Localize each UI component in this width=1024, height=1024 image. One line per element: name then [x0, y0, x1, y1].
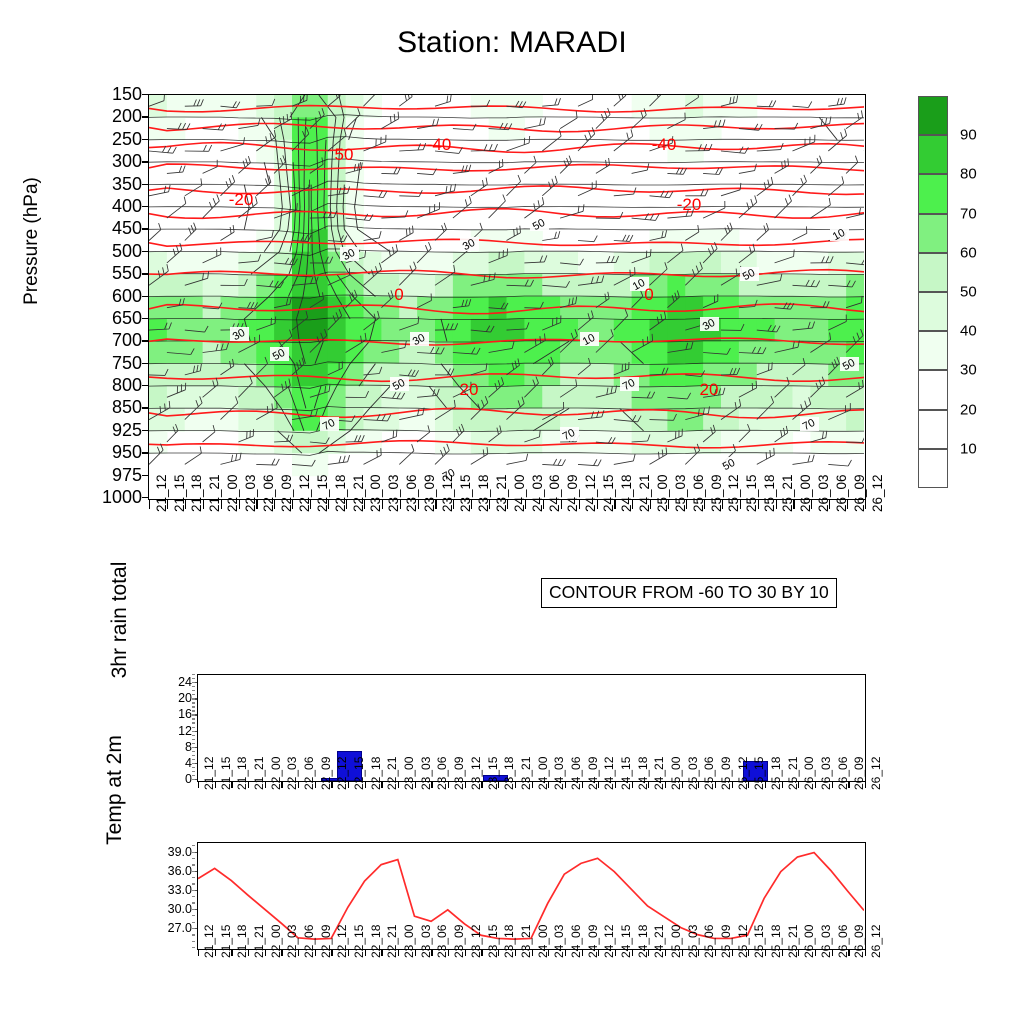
rain-minor-tick: [192, 678, 195, 679]
x-tick-label: 22_18: [370, 757, 382, 790]
x-tick-mark: [715, 950, 716, 956]
x-tick-label: 23_03: [420, 757, 432, 790]
colorbar-band[interactable]: [918, 410, 948, 449]
pressure-tick-label: 150: [112, 85, 142, 103]
x-tick-mark: [704, 500, 705, 509]
x-tick-mark: [310, 500, 311, 509]
x-tick-label: 22_09: [320, 925, 332, 958]
x-tick-mark: [682, 782, 683, 788]
rain-tick-labels: 04812162024: [140, 674, 192, 782]
x-tick-label: 24_15: [620, 925, 632, 958]
colorbar-tick-label: 40: [960, 324, 977, 339]
x-tick-label: 21_18: [236, 757, 248, 790]
temp-tick-label: 36.0: [168, 865, 192, 878]
x-tick-label: 24_00: [537, 757, 549, 790]
x-tick-label: 24_21: [653, 925, 665, 958]
x-tick-mark: [498, 950, 499, 956]
colorbar-band[interactable]: [918, 174, 948, 213]
colorbar-band[interactable]: [918, 449, 948, 488]
x-tick-label: 26_03: [820, 925, 832, 958]
x-tick-mark: [515, 782, 516, 788]
x-tick-label: 21_15: [220, 925, 232, 958]
x-tick-mark: [793, 500, 794, 509]
x-tick-label: 25_00: [670, 925, 682, 958]
x-tick-mark: [648, 950, 649, 956]
colorbar-band[interactable]: [918, 96, 948, 135]
x-tick-label: 23_12: [470, 925, 482, 958]
temp-tick-label: 39.0: [168, 846, 192, 859]
x-tick-label: 26_09: [853, 925, 865, 958]
colorbar-tick-label: 10: [960, 441, 977, 456]
page-title: Station: MARADI: [0, 26, 1024, 60]
x-tick-mark: [722, 500, 723, 509]
x-tick-mark: [614, 500, 615, 509]
x-tick-mark: [203, 500, 204, 509]
x-tick-mark: [221, 500, 222, 509]
x-tick-mark: [865, 950, 866, 956]
x-tick-mark: [346, 500, 347, 509]
pressure-tick-label: 650: [112, 309, 142, 327]
colorbar-tick-label: 20: [960, 402, 977, 417]
svg-text:20: 20: [460, 380, 479, 399]
temp-minor-tick: [192, 915, 195, 916]
colorbar-band[interactable]: [918, 331, 948, 370]
x-tick-mark: [798, 950, 799, 956]
rain-minor-tick: [192, 698, 195, 699]
x-tick-mark: [215, 950, 216, 956]
x-tick-mark: [281, 950, 282, 956]
x-tick-label: 24_18: [637, 757, 649, 790]
x-tick-label: 24_18: [637, 925, 649, 958]
x-tick-label: 21_21: [253, 757, 265, 790]
x-tick-mark: [832, 782, 833, 788]
x-tick-label: 25_15: [753, 757, 765, 790]
rain-tick-label: 16: [178, 708, 192, 721]
temp-minor-tick: [192, 928, 195, 929]
x-tick-label: 24_12: [603, 757, 615, 790]
x-tick-mark: [149, 500, 150, 509]
x-tick-label: 24_06: [570, 925, 582, 958]
x-tick-mark: [256, 500, 257, 509]
pressure-tick-labels: 1502002503003504004505005506006507007508…: [74, 94, 142, 500]
x-tick-mark: [248, 950, 249, 956]
x-tick-mark: [515, 950, 516, 956]
rain-tick-label: 0: [185, 773, 192, 786]
x-tick-mark: [865, 500, 866, 509]
x-tick-label: 26_12: [871, 474, 885, 512]
x-tick-label: 25_09: [720, 757, 732, 790]
x-tick-mark: [274, 500, 275, 509]
x-tick-mark: [715, 782, 716, 788]
colorbar-tick-label: 30: [960, 363, 977, 378]
colorbar[interactable]: 908070605040302010: [918, 96, 948, 488]
x-tick-label: 23_00: [403, 757, 415, 790]
x-tick-mark: [748, 782, 749, 788]
x-tick-mark: [231, 782, 232, 788]
x-tick-label: 23_21: [520, 925, 532, 958]
x-tick-mark: [565, 950, 566, 956]
x-tick-label: 22_12: [336, 757, 348, 790]
x-tick-mark: [579, 500, 580, 509]
x-tick-mark: [582, 782, 583, 788]
x-tick-mark: [740, 500, 741, 509]
x-tick-label: 23_03: [420, 925, 432, 958]
x-tick-mark: [582, 950, 583, 956]
x-tick-label: 26_12: [870, 925, 882, 958]
x-tick-label: 23_15: [487, 925, 499, 958]
x-tick-label: 22_12: [336, 925, 348, 958]
x-tick-mark: [847, 500, 848, 509]
x-tick-label: 25_18: [770, 925, 782, 958]
x-tick-mark: [698, 950, 699, 956]
main-x-axis: 21_1221_1521_1821_2122_0022_0322_0622_09…: [148, 500, 866, 570]
x-tick-mark: [292, 500, 293, 509]
x-tick-mark: [315, 950, 316, 956]
x-tick-label: 22_06: [303, 925, 315, 958]
x-tick-mark: [298, 782, 299, 788]
x-tick-mark: [815, 782, 816, 788]
x-tick-mark: [481, 950, 482, 956]
x-tick-mark: [732, 950, 733, 956]
temp-minor-tick: [192, 852, 195, 853]
pressure-tick-label: 950: [112, 443, 142, 461]
x-tick-label: 22_09: [320, 757, 332, 790]
x-tick-mark: [185, 500, 186, 509]
colorbar-tick-label: 60: [960, 245, 977, 260]
x-tick-label: 23_18: [503, 757, 515, 790]
rain-minor-tick: [192, 727, 195, 728]
x-tick-mark: [398, 950, 399, 956]
x-tick-mark: [632, 782, 633, 788]
x-tick-mark: [448, 950, 449, 956]
colorbar-band[interactable]: [918, 370, 948, 409]
x-tick-mark: [382, 500, 383, 509]
rain-tick-label: 8: [185, 741, 192, 754]
pressure-axis-label: Pressure (hPa): [21, 91, 43, 391]
pressure-tick-label: 750: [112, 354, 142, 372]
x-tick-mark: [331, 782, 332, 788]
x-tick-label: 25_03: [687, 757, 699, 790]
svg-text:50: 50: [335, 145, 354, 164]
pressure-tick-label: 400: [112, 197, 142, 215]
colorbar-band[interactable]: [918, 292, 948, 331]
rain-minor-tick: [192, 739, 195, 740]
pressure-tick-label: 925: [112, 421, 142, 439]
x-tick-label: 24_15: [620, 757, 632, 790]
temp-tick-label: 33.0: [168, 884, 192, 897]
x-tick-mark: [776, 500, 777, 509]
pressure-tick-label: 450: [112, 219, 142, 237]
x-tick-mark: [465, 782, 466, 788]
x-tick-label: 23_12: [470, 757, 482, 790]
x-tick-label: 22_00: [270, 757, 282, 790]
x-tick-mark: [431, 782, 432, 788]
x-tick-label: 22_06: [303, 757, 315, 790]
x-tick-mark: [665, 782, 666, 788]
x-tick-mark: [668, 500, 669, 509]
x-tick-mark: [598, 950, 599, 956]
x-tick-mark: [418, 500, 419, 509]
svg-text:0: 0: [644, 285, 653, 304]
x-tick-mark: [481, 782, 482, 788]
x-tick-mark: [848, 950, 849, 956]
x-tick-mark: [364, 500, 365, 509]
temp-minor-tick: [192, 896, 195, 897]
x-tick-label: 22_15: [353, 925, 365, 958]
temp-minor-tick: [192, 845, 195, 846]
temp-minor-tick: [192, 883, 195, 884]
colorbar-tick-label: 50: [960, 285, 977, 300]
x-tick-label: 26_00: [803, 925, 815, 958]
figure-root: Station: MARADI Pressure (hPa) 150200250…: [0, 0, 1024, 1024]
rain-tick-label: 20: [178, 692, 192, 705]
x-tick-mark: [543, 500, 544, 509]
x-tick-mark: [732, 782, 733, 788]
svg-text:-40: -40: [652, 135, 677, 154]
x-tick-label: 22_18: [370, 925, 382, 958]
x-tick-mark: [815, 950, 816, 956]
rain-minor-tick: [192, 779, 195, 780]
x-tick-label: 23_00: [403, 925, 415, 958]
cross-section-panel[interactable]: 3030303050503050507050507070707080805050…: [148, 94, 866, 500]
x-tick-label: 22_15: [353, 757, 365, 790]
temp-minor-tick: [192, 864, 195, 865]
pressure-tick-label: 850: [112, 398, 142, 416]
x-tick-label: 25_15: [753, 925, 765, 958]
temp-minor-tick: [192, 890, 195, 891]
rain-minor-tick: [192, 767, 195, 768]
temp-minor-tick: [192, 858, 195, 859]
x-tick-mark: [381, 950, 382, 956]
x-tick-mark: [782, 782, 783, 788]
rain-minor-tick: [192, 710, 195, 711]
pressure-tick-label: 250: [112, 130, 142, 148]
x-tick-mark: [415, 950, 416, 956]
pressure-tick-label: 800: [112, 376, 142, 394]
colorbar-tick-label: 70: [960, 206, 977, 221]
x-tick-mark: [548, 782, 549, 788]
rain-minor-tick: [192, 771, 195, 772]
x-tick-mark: [615, 950, 616, 956]
x-tick-label: 24_21: [653, 757, 665, 790]
x-tick-label: 24_09: [587, 757, 599, 790]
rain-minor-tick: [192, 775, 195, 776]
x-tick-mark: [561, 500, 562, 509]
x-tick-mark: [398, 782, 399, 788]
x-tick-label: 21_21: [253, 925, 265, 958]
x-tick-mark: [565, 782, 566, 788]
x-tick-mark: [448, 782, 449, 788]
x-tick-mark: [525, 500, 526, 509]
x-tick-mark: [829, 500, 830, 509]
x-tick-mark: [597, 500, 598, 509]
x-tick-mark: [198, 782, 199, 788]
x-tick-mark: [748, 950, 749, 956]
rain-minor-tick: [192, 747, 195, 748]
rain-tick-label: 12: [178, 725, 192, 738]
x-tick-label: 25_18: [770, 757, 782, 790]
x-tick-label: 25_21: [787, 925, 799, 958]
pressure-tick-label: 500: [112, 242, 142, 260]
x-tick-mark: [648, 782, 649, 788]
rain-tick-label: 24: [178, 676, 192, 689]
x-tick-label: 23_09: [453, 925, 465, 958]
x-tick-label: 26_12: [870, 757, 882, 790]
pressure-tick-label: 300: [112, 152, 142, 170]
x-tick-mark: [532, 950, 533, 956]
x-tick-mark: [632, 950, 633, 956]
x-tick-label: 26_00: [803, 757, 815, 790]
cross-section-plot: 3030303050503050507050507070707080805050…: [149, 95, 864, 498]
rain-minor-tick: [192, 731, 195, 732]
x-tick-mark: [431, 950, 432, 956]
pressure-tick-label: 975: [112, 466, 142, 484]
x-tick-mark: [328, 500, 329, 509]
x-tick-label: 25_03: [687, 925, 699, 958]
x-tick-mark: [167, 500, 168, 509]
x-tick-mark: [650, 500, 651, 509]
x-tick-label: 26_03: [820, 757, 832, 790]
rain-minor-tick: [192, 706, 195, 707]
colorbar-band[interactable]: [918, 253, 948, 292]
pressure-tick-label: 550: [112, 264, 142, 282]
contour-caption: CONTOUR FROM -60 TO 30 BY 10: [541, 578, 837, 608]
x-tick-label: 23_09: [453, 757, 465, 790]
x-tick-mark: [365, 782, 366, 788]
rain-minor-tick: [192, 755, 195, 756]
x-tick-mark: [758, 500, 759, 509]
x-tick-mark: [215, 782, 216, 788]
x-tick-mark: [348, 782, 349, 788]
x-tick-label: 24_12: [603, 925, 615, 958]
rain-minor-tick: [192, 759, 195, 760]
x-tick-mark: [798, 782, 799, 788]
rain-minor-tick: [192, 743, 195, 744]
x-tick-label: 26_09: [853, 757, 865, 790]
rain-minor-tick: [192, 694, 195, 695]
temp-axis-label: Temp at 2m: [103, 665, 127, 915]
temp-minor-tick: [192, 922, 195, 923]
x-tick-mark: [331, 950, 332, 956]
rain-minor-tick: [192, 735, 195, 736]
colorbar-band[interactable]: [918, 135, 948, 174]
x-tick-label: 25_09: [720, 925, 732, 958]
x-tick-label: 25_06: [703, 757, 715, 790]
x-tick-label: 23_06: [436, 757, 448, 790]
x-tick-mark: [471, 500, 472, 509]
x-tick-label: 23_18: [503, 925, 515, 958]
x-tick-label: 26_06: [837, 757, 849, 790]
colorbar-band[interactable]: [918, 214, 948, 253]
temp-tick-labels: 27.030.033.036.039.0: [126, 842, 192, 950]
x-tick-mark: [598, 782, 599, 788]
x-tick-label: 22_00: [270, 925, 282, 958]
x-tick-mark: [365, 950, 366, 956]
x-tick-mark: [231, 950, 232, 956]
x-tick-mark: [686, 500, 687, 509]
x-tick-mark: [265, 950, 266, 956]
x-tick-mark: [248, 782, 249, 788]
x-tick-label: 23_06: [436, 925, 448, 958]
temp-minor-tick: [192, 871, 195, 872]
x-tick-mark: [453, 500, 454, 509]
x-tick-mark: [489, 500, 490, 509]
x-tick-mark: [381, 782, 382, 788]
x-tick-mark: [848, 782, 849, 788]
temp-minor-tick: [192, 934, 195, 935]
x-tick-mark: [400, 500, 401, 509]
pressure-tick-label: 200: [112, 107, 142, 125]
x-tick-mark: [298, 950, 299, 956]
rain-minor-tick: [192, 686, 195, 687]
x-tick-mark: [198, 950, 199, 956]
temp-minor-tick: [192, 877, 195, 878]
x-tick-label: 23_21: [520, 757, 532, 790]
x-tick-mark: [865, 782, 866, 788]
x-tick-mark: [415, 782, 416, 788]
x-tick-label: 22_03: [286, 925, 298, 958]
x-tick-mark: [811, 500, 812, 509]
temp-minor-tick: [192, 902, 195, 903]
x-tick-mark: [698, 782, 699, 788]
rain-minor-tick: [192, 722, 195, 723]
x-tick-mark: [682, 950, 683, 956]
x-tick-mark: [348, 950, 349, 956]
x-tick-label: 22_21: [386, 757, 398, 790]
pressure-tick-label: 700: [112, 331, 142, 349]
x-tick-label: 25_21: [787, 757, 799, 790]
x-tick-label: 24_03: [553, 757, 565, 790]
x-tick-label: 22_21: [386, 925, 398, 958]
x-tick-mark: [532, 782, 533, 788]
temp-x-axis: 21_1221_1521_1821_2122_0022_0322_0622_09…: [197, 950, 866, 1020]
rain-tick-label: 4: [185, 757, 192, 770]
rain-minor-tick: [192, 763, 195, 764]
x-tick-label: 21_18: [236, 925, 248, 958]
x-tick-mark: [315, 782, 316, 788]
x-tick-mark: [615, 782, 616, 788]
x-tick-mark: [632, 500, 633, 509]
rain-minor-tick: [192, 714, 195, 715]
rain-minor-tick: [192, 690, 195, 691]
pressure-tick-label: 350: [112, 175, 142, 193]
x-tick-mark: [782, 950, 783, 956]
x-tick-label: 25_12: [737, 925, 749, 958]
svg-text:-20: -20: [229, 190, 254, 209]
x-tick-label: 24_06: [570, 757, 582, 790]
x-tick-label: 25_00: [670, 757, 682, 790]
x-tick-mark: [435, 500, 436, 509]
rain-minor-tick: [192, 718, 195, 719]
x-tick-mark: [281, 782, 282, 788]
x-tick-label: 21_15: [220, 757, 232, 790]
x-tick-label: 25_12: [737, 757, 749, 790]
x-tick-mark: [498, 782, 499, 788]
svg-text:-40: -40: [427, 135, 452, 154]
temp-minor-tick: [192, 941, 195, 942]
x-tick-label: 21_12: [203, 925, 215, 958]
rain-minor-tick: [192, 751, 195, 752]
x-tick-mark: [265, 782, 266, 788]
pressure-tick-label: 600: [112, 287, 142, 305]
svg-text:0: 0: [394, 285, 403, 304]
x-tick-label: 25_06: [703, 925, 715, 958]
x-tick-label: 26_06: [837, 925, 849, 958]
x-tick-label: 24_09: [587, 925, 599, 958]
colorbar-tick-label: 90: [960, 128, 977, 143]
x-tick-label: 24_03: [553, 925, 565, 958]
rain-minor-tick: [192, 682, 195, 683]
